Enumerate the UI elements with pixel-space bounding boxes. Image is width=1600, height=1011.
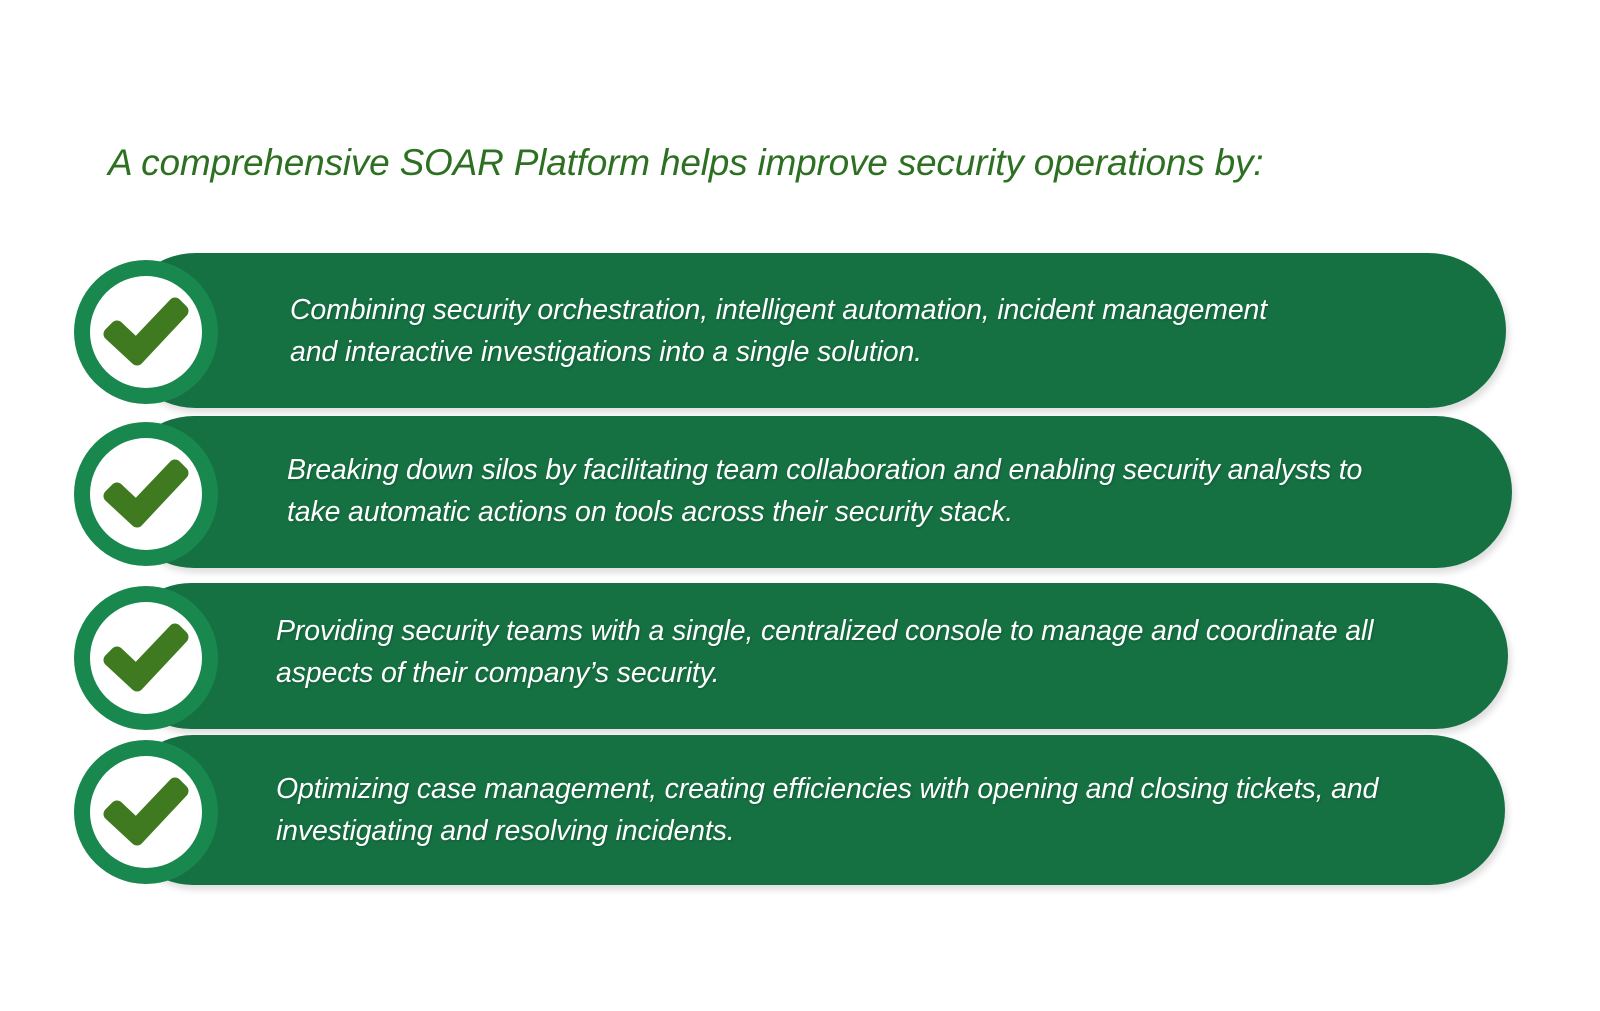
benefit-text: Breaking down silos by facilitating team… [287,449,1407,533]
check-circle-icon [72,738,220,886]
infographic-root: A comprehensive SOAR Platform helps impr… [0,0,1600,1011]
benefit-list: Combining security orchestration, intell… [0,0,1600,1011]
benefit-text: Providing security teams with a single, … [276,610,1386,694]
check-circle-icon [72,420,220,568]
benefit-text: Combining security orchestration, intell… [290,289,1300,373]
benefit-text: Optimizing case management, creating eff… [276,768,1416,852]
check-circle-icon [72,584,220,732]
check-circle-icon [72,258,220,406]
